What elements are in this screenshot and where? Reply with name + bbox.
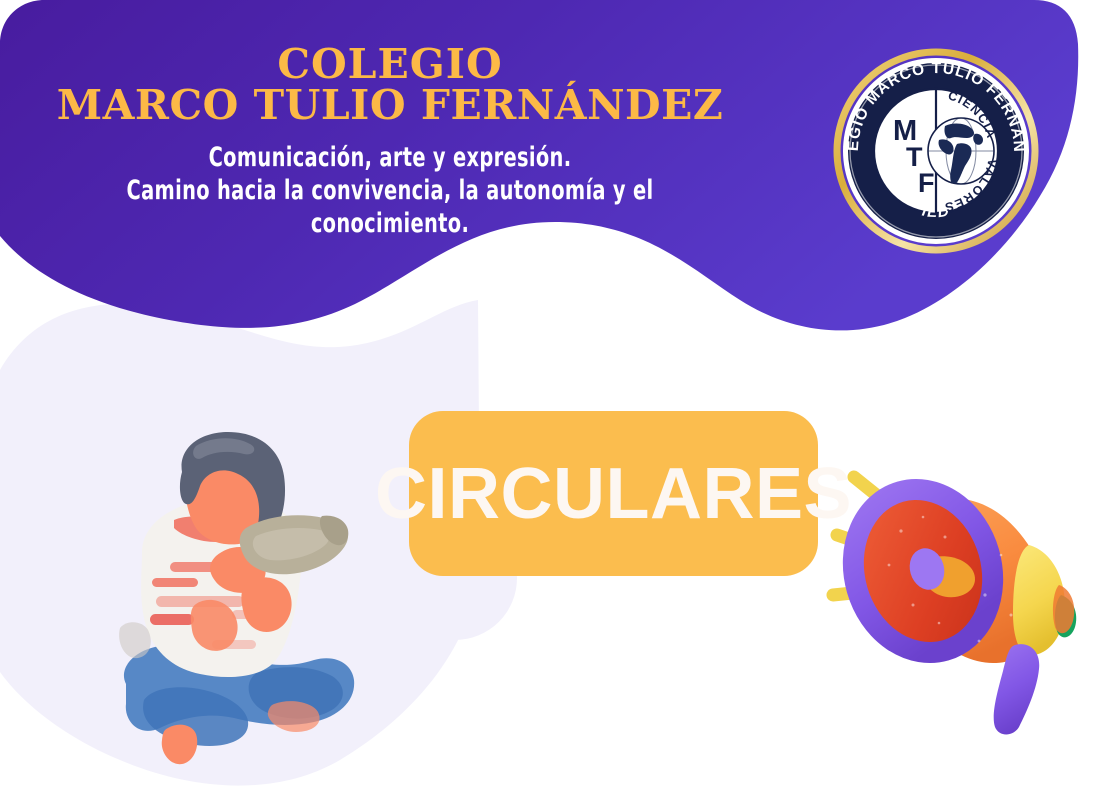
- megaphone-illustration: [815, 445, 1090, 735]
- circulares-button-label: CIRCULARES: [375, 458, 852, 530]
- school-motto-line1: Comunicación, arte y expresión.: [102, 142, 678, 175]
- school-motto: Comunicación, arte y expresión. Camino h…: [102, 142, 678, 241]
- school-motto-line2: Camino hacia la convivencia, la autonomí…: [102, 175, 678, 208]
- reader-book: [240, 515, 349, 574]
- school-title: COLEGIO MARCO TULIO FERNÁNDEZ: [30, 44, 750, 127]
- logo-monogram-f: F: [918, 168, 935, 198]
- circulares-button[interactable]: CIRCULARES: [409, 411, 818, 576]
- school-motto-line3: conocimiento.: [102, 208, 678, 241]
- poster-canvas: COLEGIO MARCO TULIO FERNÁNDEZ Comunicaci…: [0, 0, 1093, 797]
- megaphone-cap: [1053, 585, 1074, 633]
- header-text-block: COLEGIO MARCO TULIO FERNÁNDEZ Comunicaci…: [30, 44, 750, 240]
- person-reading-book-illustration: [108, 432, 378, 772]
- school-title-line2: MARCO TULIO FERNÁNDEZ: [30, 85, 750, 127]
- school-title-line1: COLEGIO: [30, 44, 750, 86]
- school-seal-logo: COLEGIO MARCO TULIO FERNÁNDEZ IED M T F: [833, 48, 1039, 254]
